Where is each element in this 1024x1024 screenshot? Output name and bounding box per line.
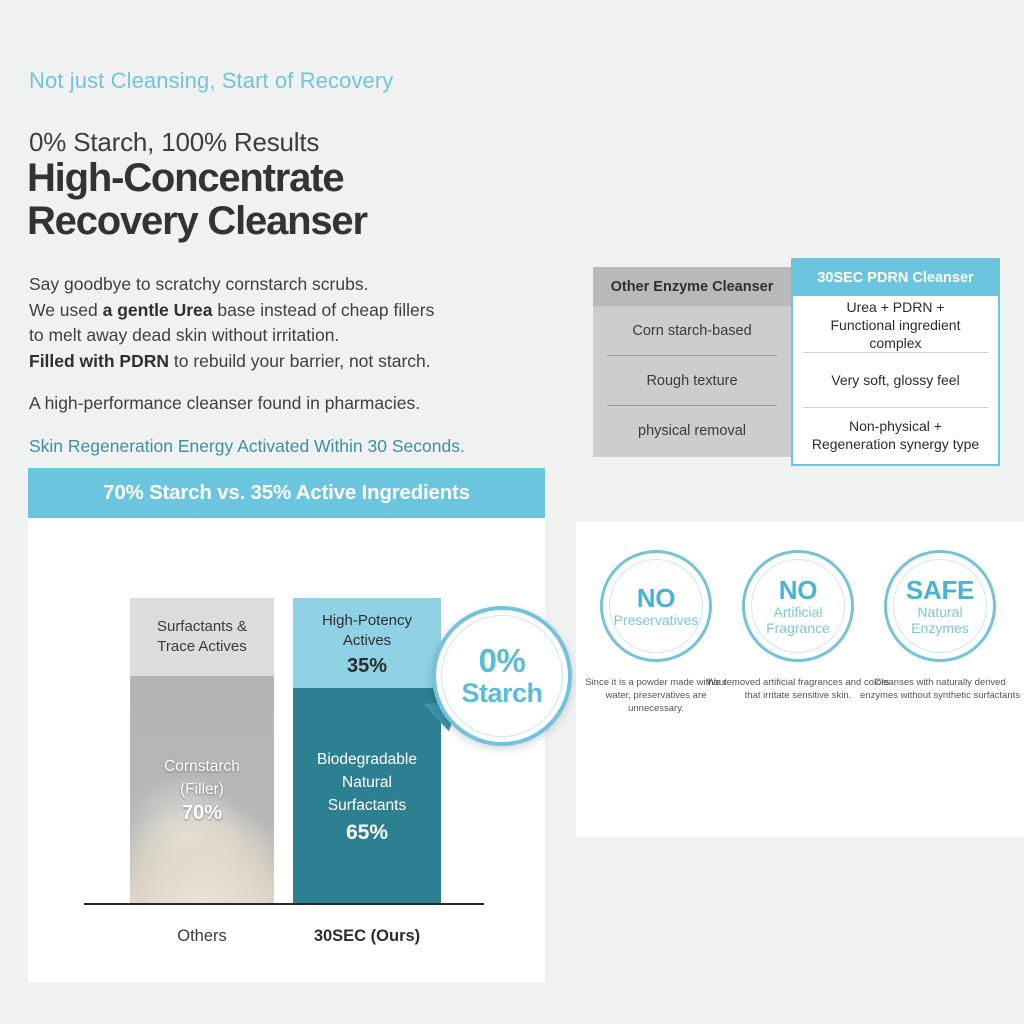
badge-subline-2: Fragrance bbox=[766, 620, 830, 636]
bar-others: Surfactants & Trace Actives Cornstarch (… bbox=[130, 598, 274, 904]
badge-list: NO Preservatives Since it is a powder ma… bbox=[576, 522, 1024, 837]
badge-circle-icon: SAFE Natural Enzymes bbox=[884, 550, 996, 662]
table-row: Corn starch-based bbox=[607, 306, 777, 355]
bar-segment-biodegradable: Biodegradable Natural Surfactants 65% bbox=[293, 688, 441, 904]
promo-page: Not just Cleansing, Start of Recovery 0%… bbox=[0, 0, 1024, 1024]
chart-xtick-ours: 30SEC (Ours) bbox=[293, 927, 441, 946]
table-row: Urea + PDRN + Functional ingredient comp… bbox=[803, 298, 988, 352]
bar-segment-surfactants: Surfactants & Trace Actives bbox=[130, 598, 274, 676]
headline-line-2: Recovery Cleanser bbox=[27, 200, 367, 243]
callout-line-2: Starch bbox=[461, 678, 542, 709]
table-row: Non-physical + Regeneration synergy type bbox=[803, 407, 988, 462]
badge-no-preservatives: NO Preservatives Since it is a powder ma… bbox=[595, 550, 717, 715]
bar-segment-high-potency: High-Potency Actives 35% bbox=[293, 598, 441, 688]
eyebrow-text: Not just Cleansing, Start of Recovery bbox=[29, 68, 393, 94]
badge-circle-icon: NO Artificial Fragrance bbox=[742, 550, 854, 662]
chart-title: 70% Starch vs. 35% Active Ingredients bbox=[28, 468, 545, 518]
copy-line-highlight: Skin Regeneration Energy Activated Withi… bbox=[29, 434, 529, 459]
badge-subline-1: Artificial bbox=[773, 604, 822, 620]
table-row: Very soft, glossy feel bbox=[803, 352, 988, 407]
bar-segment-cornstarch: Cornstarch (Filler) 70% bbox=[130, 676, 274, 904]
badge-subline: Preservatives bbox=[614, 612, 699, 628]
badge-circle-text: NO Preservatives bbox=[603, 553, 709, 659]
badge-headline: NO bbox=[637, 585, 675, 611]
bar-value-label: 65% bbox=[346, 821, 388, 844]
copy-line-2-c: base instead of cheap fillers bbox=[213, 300, 435, 320]
bar-segment-label: Biodegradable bbox=[317, 748, 417, 771]
body-copy: Say goodbye to scratchy cornstarch scrub… bbox=[29, 272, 529, 459]
bar-segment-label: High-Potency bbox=[322, 611, 412, 631]
badge-headline: NO bbox=[779, 577, 817, 603]
badge-subline: Artificial Fragrance bbox=[766, 604, 830, 636]
comparison-other-rows: Corn starch-based Rough texture physical… bbox=[593, 306, 791, 455]
copy-line-4: Filled with PDRN to rebuild your barrier… bbox=[29, 349, 529, 375]
callout-text: 0% Starch bbox=[432, 606, 572, 746]
bar-ours: High-Potency Actives 35% Biodegradable N… bbox=[293, 598, 441, 904]
bar-segment-label-3: Surfactants bbox=[328, 794, 406, 817]
badge-circle-text: NO Artificial Fragrance bbox=[745, 553, 851, 659]
bar-segment-label-2: Actives bbox=[343, 631, 391, 651]
bar-value-label: 70% bbox=[182, 802, 222, 825]
comparison-ours-rows: Urea + PDRN + Functional ingredient comp… bbox=[793, 296, 998, 462]
badge-subline: Natural Enzymes bbox=[911, 604, 969, 636]
badge-circle-icon: NO Preservatives bbox=[600, 550, 712, 662]
comparison-column-ours: 30SEC PDRN Cleanser Urea + PDRN + Functi… bbox=[791, 258, 1000, 466]
bar-segment-label: Cornstarch bbox=[164, 755, 240, 778]
table-row: Rough texture bbox=[607, 355, 777, 405]
badge-subline-1: Natural bbox=[917, 604, 962, 620]
kicker-text: 0% Starch, 100% Results bbox=[29, 127, 319, 158]
copy-line-5: A high-performance cleanser found in pha… bbox=[29, 391, 529, 417]
copy-block-main: Say goodbye to scratchy cornstarch scrub… bbox=[29, 272, 529, 374]
copy-emphasis-pdrn: Filled with PDRN bbox=[29, 351, 169, 371]
badge-safe-natural-enzymes: SAFE Natural Enzymes Cleanses with natur… bbox=[879, 550, 1001, 702]
chart-plot-area: Surfactants & Trace Actives Cornstarch (… bbox=[28, 518, 545, 982]
bar-segment-label: Surfactants & bbox=[157, 617, 247, 637]
zero-starch-callout: 0% Starch bbox=[432, 606, 572, 746]
bar-segment-label-2: Natural bbox=[342, 771, 392, 794]
copy-line-1: Say goodbye to scratchy cornstarch scrub… bbox=[29, 272, 529, 298]
badge-headline: SAFE bbox=[906, 577, 974, 603]
chart-card: 70% Starch vs. 35% Active Ingredients Su… bbox=[28, 468, 545, 982]
chart-xtick-others: Others bbox=[130, 927, 274, 946]
page-title: High-Concentrate Recovery Cleanser bbox=[27, 157, 367, 243]
badge-circle-text: SAFE Natural Enzymes bbox=[887, 553, 993, 659]
headline-line-1: High-Concentrate bbox=[27, 157, 367, 200]
bar-segment-label-2: Trace Actives bbox=[157, 637, 246, 657]
copy-line-4-b: to rebuild your barrier, not starch. bbox=[169, 351, 431, 371]
badge-no-artificial-fragrance: NO Artificial Fragrance We removed artif… bbox=[737, 550, 859, 702]
callout-line-1: 0% bbox=[479, 643, 526, 678]
copy-line-2-a: We used bbox=[29, 300, 103, 320]
comparison-other-header: Other Enzyme Cleanser bbox=[593, 267, 791, 306]
copy-line-3: to melt away dead skin without irritatio… bbox=[29, 323, 529, 349]
copy-block-pharmacy: A high-performance cleanser found in pha… bbox=[29, 391, 529, 417]
chart-baseline-axis bbox=[84, 903, 484, 905]
bar-segment-label-2: (Filler) bbox=[180, 778, 224, 801]
comparison-ours-header: 30SEC PDRN Cleanser bbox=[793, 260, 998, 296]
copy-line-2: We used a gentle Urea base instead of ch… bbox=[29, 298, 529, 324]
badges-card: NO Preservatives Since it is a powder ma… bbox=[576, 522, 1024, 837]
table-row: physical removal bbox=[607, 405, 777, 455]
copy-emphasis-urea: a gentle Urea bbox=[103, 300, 213, 320]
badge-subline-2: Enzymes bbox=[911, 620, 969, 636]
comparison-column-other: Other Enzyme Cleanser Corn starch-based … bbox=[593, 267, 791, 457]
badge-caption: Cleanses with naturally derived enzymes … bbox=[856, 676, 1024, 702]
bar-value-label: 35% bbox=[347, 656, 387, 676]
